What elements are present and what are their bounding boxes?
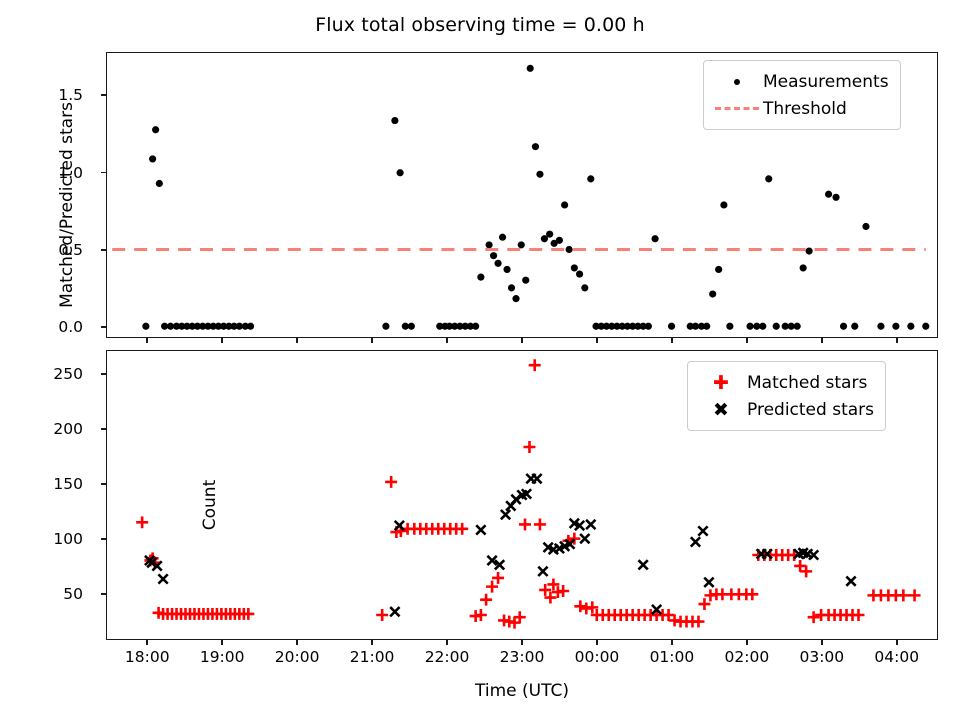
xtick-mark — [896, 640, 898, 645]
xtick-label: 20:00 — [275, 648, 320, 666]
xtick-label: 04:00 — [874, 648, 919, 666]
measurement-point — [765, 175, 772, 182]
measurements-dot-icon — [713, 71, 761, 93]
measurement-point — [806, 247, 813, 254]
measurement-point — [522, 277, 529, 284]
ytick-mark — [101, 249, 106, 251]
measurement-point — [527, 65, 534, 72]
ytick-mark — [101, 94, 106, 96]
ytick-mark — [101, 593, 106, 595]
measurement-point — [840, 323, 847, 330]
xtick-mark — [671, 640, 673, 645]
matched-star-point — [692, 616, 704, 628]
measurement-point — [556, 237, 563, 244]
matched-star-point — [456, 523, 468, 535]
measurement-point — [142, 323, 149, 330]
measurement-point — [571, 264, 578, 271]
xtick-mark-top-panel — [371, 338, 373, 343]
matched-star-point — [574, 600, 586, 612]
ytick-label: 150 — [53, 475, 92, 493]
xtick-mark-top-panel — [821, 338, 823, 343]
matched-star-point — [136, 516, 148, 528]
xtick-label: 00:00 — [575, 648, 620, 666]
bottom-panel-ytick-labels: 50100150200250 — [0, 350, 92, 640]
measurement-point — [703, 323, 710, 330]
measurement-point — [503, 266, 510, 273]
predicted-star-point — [846, 577, 855, 586]
xtick-mark-top-panel — [296, 338, 298, 343]
predicted-star-point — [704, 578, 713, 587]
matched-star-point — [897, 589, 909, 601]
measurement-point — [490, 252, 497, 259]
xtick-label: 19:00 — [200, 648, 245, 666]
measurement-point — [652, 235, 659, 242]
measurement-point — [832, 194, 839, 201]
legend-item-predicted-stars[interactable]: ✖ Predicted stars — [697, 396, 874, 423]
xtick-mark-top-panel — [896, 338, 898, 343]
measurement-point — [759, 323, 766, 330]
predicted-star-point — [638, 560, 647, 569]
measurement-point — [149, 155, 156, 162]
figure-title: Flux total observing time = 0.00 h — [0, 14, 960, 36]
xtick-mark — [521, 640, 523, 645]
matched-star-point — [534, 518, 546, 530]
measurement-point — [907, 323, 914, 330]
legend-item-measurements[interactable]: Measurements — [713, 68, 889, 95]
xtick-mark-top-panel — [446, 338, 448, 343]
ytick-label: 250 — [53, 365, 92, 383]
measurement-point — [472, 323, 479, 330]
x-axis-label: Time (UTC) — [106, 681, 938, 701]
xtick-mark — [221, 640, 223, 645]
measurement-point — [508, 284, 515, 291]
measurement-point — [587, 175, 594, 182]
xtick-label: 01:00 — [650, 648, 695, 666]
xtick-mark-top-panel — [596, 338, 598, 343]
measurement-point — [581, 284, 588, 291]
matched-star-point — [480, 594, 492, 606]
legend-label-predicted-stars: Predicted stars — [745, 400, 874, 420]
measurement-point — [922, 323, 929, 330]
plus-marker-icon: ✚ — [697, 372, 745, 394]
measurement-point — [391, 117, 398, 124]
measurement-point — [518, 241, 525, 248]
xtick-label: 22:00 — [425, 648, 470, 666]
measurement-point — [862, 223, 869, 230]
predicted-star-point — [691, 537, 700, 546]
xtick-label: 21:00 — [350, 648, 395, 666]
measurement-point — [794, 323, 801, 330]
ytick-label: 1.0 — [58, 164, 92, 182]
measurement-point — [800, 264, 807, 271]
measurement-point — [408, 323, 415, 330]
ytick-mark — [101, 172, 106, 174]
legend-label-matched-stars: Matched stars — [745, 373, 867, 393]
predicted-star-point — [586, 520, 595, 529]
legend-label-measurements: Measurements — [761, 72, 889, 92]
measurement-point — [576, 270, 583, 277]
ytick-label: 0.0 — [58, 318, 92, 336]
legend-item-matched-stars[interactable]: ✚ Matched stars — [697, 369, 874, 396]
matched-star-point — [808, 611, 820, 623]
xtick-mark — [596, 640, 598, 645]
ytick-label: 0.5 — [58, 241, 92, 259]
xtick-mark-top-panel — [221, 338, 223, 343]
predicted-star-point — [538, 567, 547, 576]
measurement-point — [561, 201, 568, 208]
measurement-point — [247, 323, 254, 330]
matched-star-point — [486, 581, 498, 593]
legend-item-threshold[interactable]: Threshold — [713, 95, 889, 122]
xtick-label: 02:00 — [725, 648, 770, 666]
xtick-mark — [146, 640, 148, 645]
predicted-star-point — [476, 525, 485, 534]
ytick-mark — [101, 483, 106, 485]
predicted-star-point — [390, 607, 399, 616]
predicted-star-point — [158, 574, 167, 583]
measurement-point — [773, 323, 780, 330]
figure-container: Flux total observing time = 0.00 h Match… — [0, 0, 960, 720]
ytick-label: 1.5 — [58, 86, 92, 104]
measurement-point — [645, 323, 652, 330]
matched-star-point — [698, 598, 710, 610]
xtick-mark — [296, 640, 298, 645]
ytick-label: 200 — [53, 420, 92, 438]
xtick-mark — [746, 640, 748, 645]
measurement-point — [566, 246, 573, 253]
matched-star-point — [519, 518, 531, 530]
measurement-point — [546, 231, 553, 238]
matched-star-point — [529, 359, 541, 371]
measurement-point — [494, 260, 501, 267]
matched-star-point — [385, 476, 397, 488]
measurement-point — [877, 323, 884, 330]
matched-star-point — [746, 588, 758, 600]
measurement-point — [512, 295, 519, 302]
measurement-point — [397, 169, 404, 176]
xtick-label: 03:00 — [799, 648, 844, 666]
xtick-label: 23:00 — [500, 648, 545, 666]
top-panel-legend: Measurements Threshold — [703, 60, 901, 130]
measurement-point — [892, 323, 899, 330]
bottom-panel-ylabel: Count — [200, 360, 220, 650]
xtick-mark-top-panel — [521, 338, 523, 343]
measurement-point — [726, 323, 733, 330]
xtick-mark — [446, 640, 448, 645]
ytick-label: 100 — [53, 530, 92, 548]
measurement-point — [156, 180, 163, 187]
measurement-point — [532, 143, 539, 150]
predicted-star-point — [698, 526, 707, 535]
xtick-mark-top-panel — [746, 338, 748, 343]
top-panel-ytick-labels: 0.00.51.01.5 — [0, 52, 92, 338]
measurement-point — [536, 171, 543, 178]
measurement-point — [825, 191, 832, 198]
xtick-mark — [371, 640, 373, 645]
ytick-mark — [101, 428, 106, 430]
matched-star-point — [853, 609, 865, 621]
measurement-point — [668, 323, 675, 330]
xtick-mark-top-panel — [671, 338, 673, 343]
measurement-point — [499, 234, 506, 241]
measurement-point — [486, 241, 493, 248]
ytick-mark — [101, 326, 106, 328]
measurement-point — [746, 323, 753, 330]
predicted-star-point — [532, 474, 541, 483]
measurement-point — [709, 290, 716, 297]
xtick-label: 18:00 — [125, 648, 170, 666]
matched-star-point — [376, 609, 388, 621]
legend-label-threshold: Threshold — [761, 99, 847, 119]
measurement-point — [715, 266, 722, 273]
xtick-mark-top-panel — [146, 338, 148, 343]
matched-star-point — [492, 572, 504, 584]
matched-star-point — [523, 441, 535, 453]
ytick-mark — [101, 538, 106, 540]
predicted-star-point — [580, 534, 589, 543]
xtick-mark — [821, 640, 823, 645]
predicted-star-point — [501, 510, 510, 519]
predicted-star-point — [395, 521, 404, 530]
cross-marker-icon: ✖ — [697, 399, 745, 421]
measurement-point — [152, 126, 159, 133]
measurement-point — [477, 274, 484, 281]
measurement-point — [720, 201, 727, 208]
matched-star-point — [909, 589, 921, 601]
ytick-mark — [101, 373, 106, 375]
bottom-panel-legend: ✚ Matched stars ✖ Predicted stars — [687, 361, 886, 431]
measurement-point — [851, 323, 858, 330]
threshold-dashed-line-icon — [713, 98, 761, 120]
ytick-label: 50 — [63, 585, 92, 603]
measurement-point — [382, 323, 389, 330]
